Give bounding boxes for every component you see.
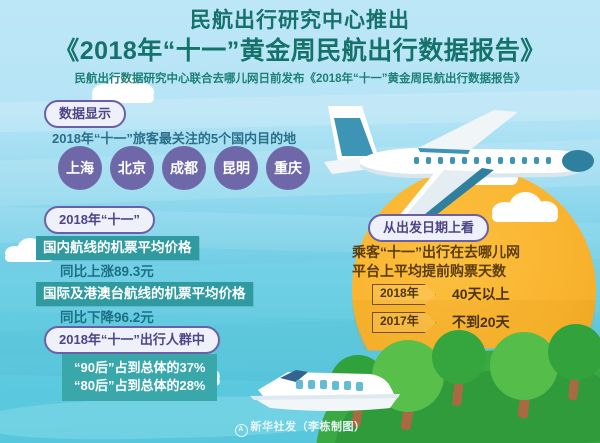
advance-year-tag-2018: 2018年 (372, 284, 436, 305)
destination-circle-3[interactable]: 成都 (162, 146, 206, 190)
advance-year-tag-2017: 2017年 (372, 312, 436, 333)
infographic-poster: 民航出行研究中心推出 《2018年“十一”黄金周民航出行数据报告》 民航出行数据… (0, 0, 600, 443)
price-value-domestic: 同比上涨89.3元 (60, 260, 154, 280)
boat-illustration (250, 360, 410, 416)
destination-circle-2[interactable]: 北京 (110, 146, 154, 190)
badge-2018-holiday-price: 2018年“十一” (44, 206, 155, 234)
advance-value-2018: 40天以上 (452, 284, 510, 304)
price-value-international: 同比下降96.2元 (60, 306, 154, 326)
destination-list: 上海 北京 成都 昆明 重庆 (58, 146, 310, 190)
badge-departure-date: 从出发日期上看 (368, 214, 489, 242)
age-group-box: “90后”占到总体的37% “80后”占到总体的28% (62, 354, 217, 401)
page-title: 民航出行研究中心推出 《2018年“十一”黄金周民航出行数据报告》 (0, 8, 600, 67)
destination-circle-1[interactable]: 上海 (58, 146, 102, 190)
page-subtitle: 民航出行数据研究中心联合去哪儿网日前发布《2018年“十一”黄金周民航出行数据报… (0, 70, 600, 86)
tree-illustration (548, 324, 600, 400)
badge-2018-travelers: 2018年“十一”出行人群中 (44, 326, 220, 354)
price-label-international: 国际及港澳台航线的机票平均价格 (36, 282, 253, 306)
destination-circle-5[interactable]: 重庆 (266, 146, 310, 190)
advance-value-2017: 不到20天 (452, 312, 510, 332)
title-line-1: 民航出行研究中心推出 (0, 8, 600, 34)
xinhua-logo-icon: A (235, 424, 248, 437)
airplane-illustration (322, 104, 600, 224)
age-group-line-1: “90后”占到总体的37% (74, 359, 205, 377)
advance-desc-line-2: 平台上平均提前购票天数 (352, 262, 506, 281)
tree-illustration (432, 330, 488, 404)
age-group-line-2: “80后”占到总体的28% (74, 377, 205, 395)
destination-circle-4[interactable]: 昆明 (214, 146, 258, 190)
destinations-caption: 2018年“十一”旅客最关注的5个国内目的地 (52, 128, 296, 147)
title-line-2: 《2018年“十一”黄金周民航出行数据报告》 (0, 35, 600, 67)
price-label-domestic: 国内航线的机票平均价格 (36, 236, 199, 260)
credit-text: 新华社发（李栋制图） (251, 421, 366, 433)
credit-line: A新华社发（李栋制图） (0, 418, 600, 437)
badge-data-shows: 数据显示 (44, 100, 126, 128)
advance-desc-line-1: 乘客“十一”出行在去哪儿网 (352, 243, 520, 262)
